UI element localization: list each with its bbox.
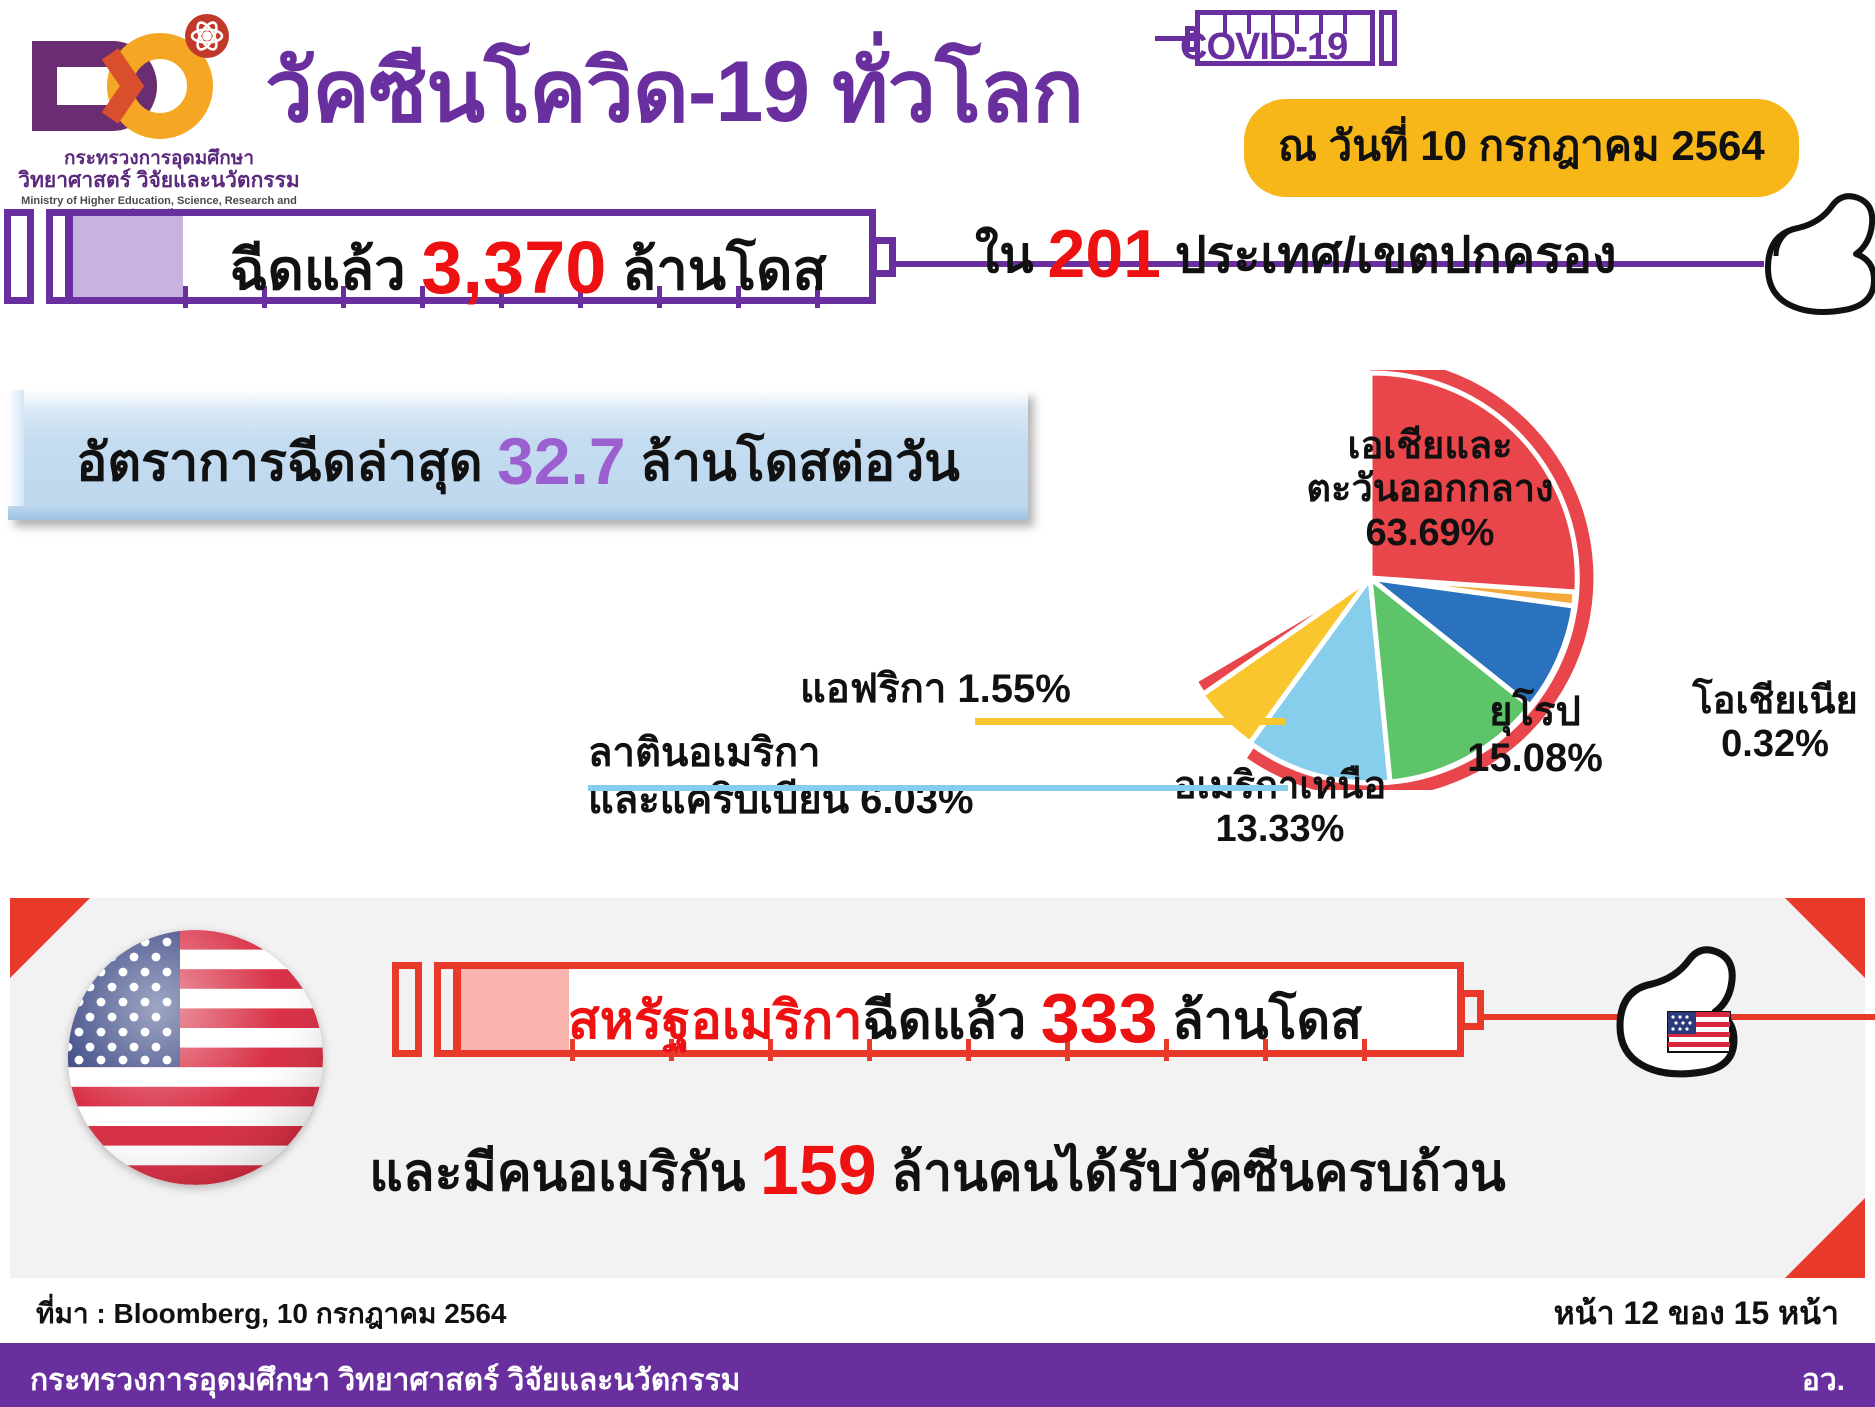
pie-leader-latin-america <box>588 785 1288 791</box>
countries-text: ใน 201 ประเทศ/เขตปกครอง <box>975 215 1617 295</box>
flexed-arm-icon <box>1760 190 1875 315</box>
daily-rate-panel: อัตราการฉีดล่าสุด 32.7 ล้านโดสต่อวัน <box>8 390 1028 520</box>
usa-doses-country: สหรัฐอเมริกา <box>568 992 863 1050</box>
daily-rate-text: อัตราการฉีดล่าสุด 32.7 ล้านโดสต่อวัน <box>8 420 1028 503</box>
corner-accent-top-right <box>1785 898 1865 978</box>
pie-label-oceania-pct: 0.32% <box>1650 723 1875 766</box>
global-doses-value: 3,370 <box>421 226 606 309</box>
covid-19-label: COVID-19 <box>1180 26 1347 69</box>
pie-label-europe: ยุโรป 15.08% <box>1440 690 1630 781</box>
global-doses-suffix: ล้านโดส <box>622 238 827 301</box>
page-title: วัคซีนโควิด-19 ทั่วโลก <box>265 22 1083 159</box>
syringe-plunger-end <box>4 209 34 304</box>
global-doses-prefix: ฉีดแล้ว <box>229 238 405 301</box>
pie-label-oceania-name: โอเชียเนีย <box>1650 680 1875 723</box>
countries-suffix: ประเทศ/เขตปกครอง <box>1175 227 1617 283</box>
usa-syringe-plunger-end <box>392 962 422 1057</box>
global-doses-text: ฉีดแล้ว 3,370 ล้านโดส <box>178 225 878 314</box>
pie-label-europe-pct: 15.08% <box>1440 736 1630 782</box>
rate-prefix: อัตราการฉีดล่าสุด <box>76 434 483 492</box>
usa-doses-value: 333 <box>1041 979 1158 1057</box>
logo-mark-icon <box>32 14 262 144</box>
pie-leader-africa <box>975 718 1285 725</box>
date-badge: ณ วันที่ 10 กรกฎาคม 2564 <box>1244 99 1799 197</box>
source-text: ที่มา : Bloomberg, 10 กรกฎาคม 2564 <box>36 1292 507 1336</box>
usa-doses-text: สหรัฐอเมริกาฉีดแล้ว 333 ล้านโดส <box>460 978 1470 1061</box>
countries-prefix: ใน <box>975 227 1034 283</box>
footer-ministry-name: กระทรวงการอุดมศึกษา วิทยาศาสตร์ วิจัยและ… <box>30 1357 740 1404</box>
pie-label-africa: แอฟริกา 1.55% <box>800 667 1071 713</box>
pie-label-latin-america-line1: ลาตินอเมริกา <box>588 730 974 777</box>
syringe-fill <box>73 216 183 297</box>
usa-doses-prefix2: ฉีดแล้ว <box>862 992 1026 1050</box>
footer-bar: กระทรวงการอุดมศึกษา วิทยาศาสตร์ วิจัยและ… <box>0 1343 1875 1407</box>
rate-suffix: ล้านโดสต่อวัน <box>640 434 960 492</box>
pie-label-europe-name: ยุโรป <box>1440 690 1630 736</box>
page-number: หน้า 12 ของ 15 หน้า <box>1554 1288 1839 1339</box>
pie-label-latin-america: ลาตินอเมริกา และแคริบเบียน 6.03% <box>588 730 974 824</box>
countries-value: 201 <box>1048 216 1161 292</box>
logo-caption-line2: วิทยาศาสตร์ วิจัยและนวัตกรรม <box>14 169 304 193</box>
pie-label-oceania: โอเชียเนีย 0.32% <box>1650 680 1875 767</box>
pie-label-asia-line1: เอเชียและ <box>1280 425 1580 468</box>
pie-label-asia-line2: ตะวันออกกลาง <box>1280 468 1580 511</box>
usa-doses-suffix: ล้านโดส <box>1172 992 1362 1050</box>
pie-label-north-america-pct: 13.33% <box>1150 808 1410 851</box>
pie-label-north-america: อเมริกาเหนือ 13.33% <box>1150 765 1410 852</box>
logo-caption-line1: กระทรวงการอุดมศึกษา <box>14 148 304 169</box>
flexed-arm-with-flag-icon <box>1610 940 1770 1080</box>
usa-fully-suffix: ล้านคนได้รับวัคซีนครบถ้วน <box>891 1144 1506 1202</box>
corner-accent-top-left <box>10 898 90 978</box>
pie-label-asia: เอเชียและ ตะวันออกกลาง 63.69% <box>1280 425 1580 555</box>
usa-fully-value: 159 <box>760 1131 877 1209</box>
ministry-logo: กระทรวงการอุดมศึกษา วิทยาศาสตร์ วิจัยและ… <box>14 8 304 203</box>
usa-fully-vaccinated-text: และมีคนอเมริกัน 159 ล้านคนได้รับวัคซีนคร… <box>10 1130 1865 1213</box>
usa-fully-prefix: และมีคนอเมริกัน <box>369 1144 745 1202</box>
rate-value: 32.7 <box>497 424 625 498</box>
pie-label-asia-pct: 63.69% <box>1280 512 1580 555</box>
footer-abbrev: อว. <box>1802 1357 1845 1404</box>
